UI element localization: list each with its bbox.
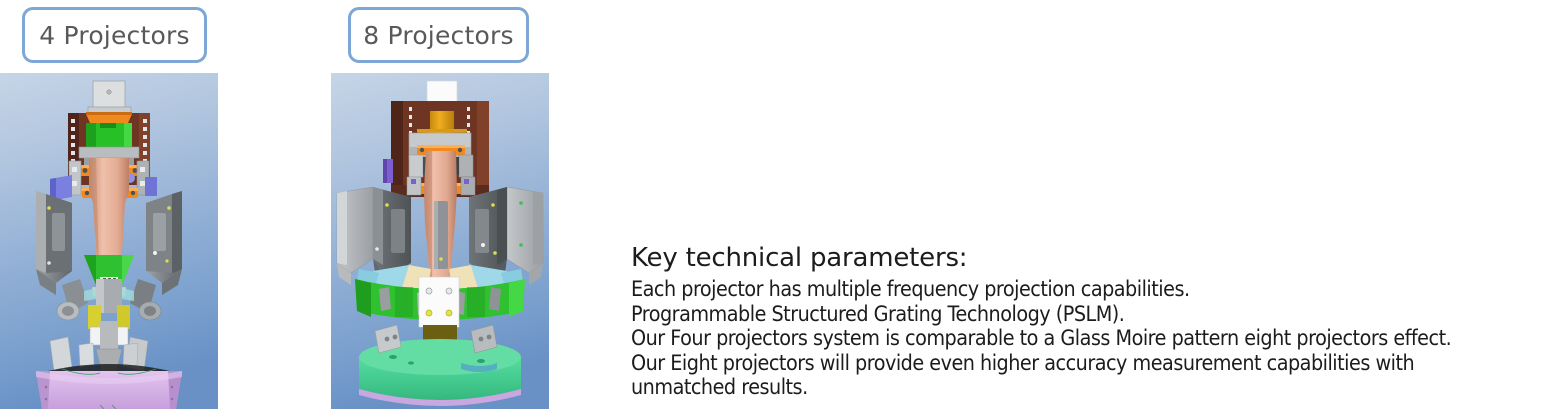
lavender-base-ring	[36, 364, 182, 409]
green-module-upper	[86, 123, 132, 147]
label-chip-eight-projectors: 8 Projectors	[348, 7, 529, 63]
top-mount-bracket	[88, 81, 131, 115]
four-projector-scanner-drawing	[0, 73, 218, 409]
four-projector-scanner-render	[0, 73, 218, 409]
specs-line-3: Our Four projectors system is comparable…	[631, 326, 1473, 351]
label-chip-four-projectors-text: 4 Projectors	[39, 21, 189, 50]
label-chip-eight-projectors-text: 8 Projectors	[363, 21, 513, 50]
specs-line-1: Each projector has multiple frequency pr…	[631, 277, 1473, 302]
specs-heading: Key technical parameters:	[631, 241, 1551, 275]
label-chip-four-projectors: 4 Projectors	[22, 7, 207, 63]
specs-line-2: Programmable Structured Grating Technolo…	[631, 302, 1473, 327]
specs-line-4: Our Eight projectors will provide even h…	[631, 351, 1473, 376]
key-technical-parameters-block: Key technical parameters: Each projector…	[631, 241, 1551, 400]
eight-projector-scanner-drawing	[331, 73, 549, 409]
upper-orange-clamp	[86, 112, 132, 123]
specs-line-5: unmatched results.	[631, 375, 1473, 400]
eight-projector-scanner-render	[331, 73, 549, 409]
purple-accent-block	[383, 159, 393, 183]
